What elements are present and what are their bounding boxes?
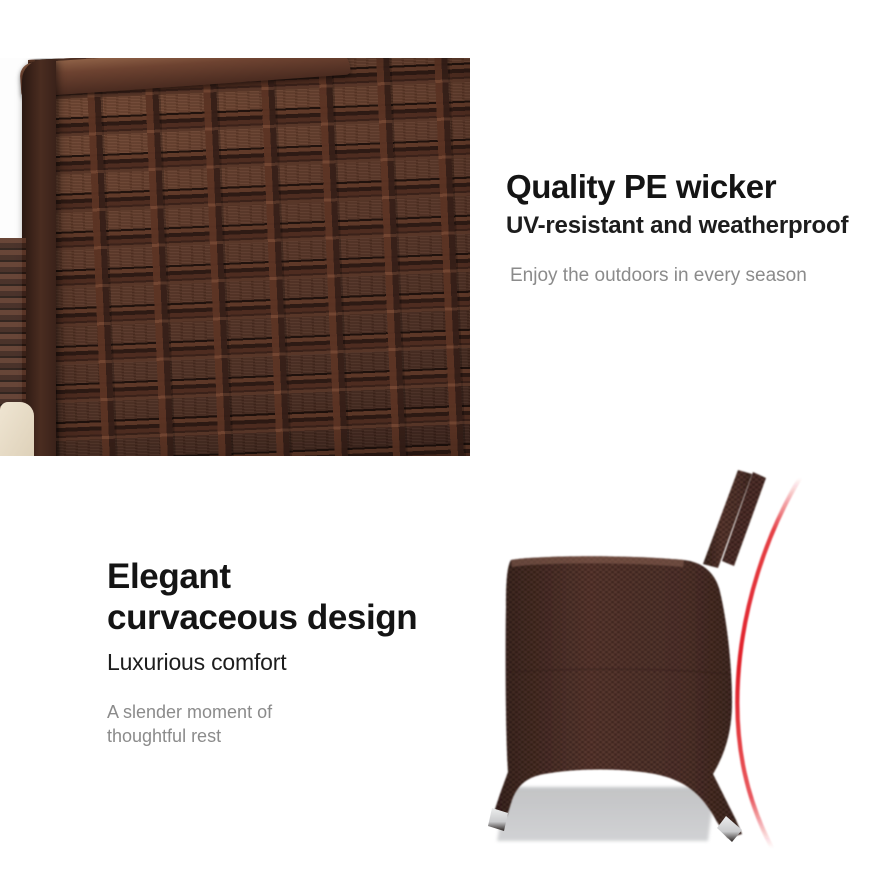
armrest-weave-panel	[0, 238, 26, 428]
feature-subheading-luxurious-comfort: Luxurious comfort	[107, 649, 457, 677]
feature-caption-enjoy-outdoors: Enjoy the outdoors in every season	[510, 263, 876, 289]
feature-block-quality-pe-wicker: Quality PE wicker UV-resistant and weath…	[506, 168, 876, 289]
feature-heading-quality-pe-wicker: Quality PE wicker	[506, 168, 876, 206]
feature-heading-elegant-curvaceous: Elegant curvaceous design	[107, 556, 457, 639]
chair-backrest-rails	[703, 470, 766, 568]
wicker-weave-closeup-photo	[0, 0, 470, 456]
feature-block-elegant-design: Elegant curvaceous design Luxurious comf…	[107, 556, 457, 749]
feature-caption-slender-moment: A slender moment of thoughtful rest	[107, 700, 457, 749]
chair-corner-post	[22, 60, 56, 456]
heading-line-2: curvaceous design	[107, 598, 417, 637]
caption-line-2: thoughtful rest	[107, 726, 221, 746]
weave-weft-highlights	[28, 40, 470, 456]
cream-cushion-edge	[0, 402, 34, 456]
red-silhouette-curve	[737, 478, 800, 848]
feature-subheading-uv-resistant: UV-resistant and weatherproof	[506, 212, 876, 241]
chair-side-profile-photo	[470, 456, 885, 885]
photo-top-margin	[0, 0, 470, 58]
product-feature-canvas: Quality PE wicker UV-resistant and weath…	[0, 0, 885, 885]
floor-shadow	[497, 787, 715, 841]
foreground-basket-weave	[28, 40, 470, 456]
chair-profile-illustration	[470, 456, 885, 885]
caption-line-1: A slender moment of	[107, 702, 272, 722]
heading-line-1: Elegant	[107, 557, 231, 596]
